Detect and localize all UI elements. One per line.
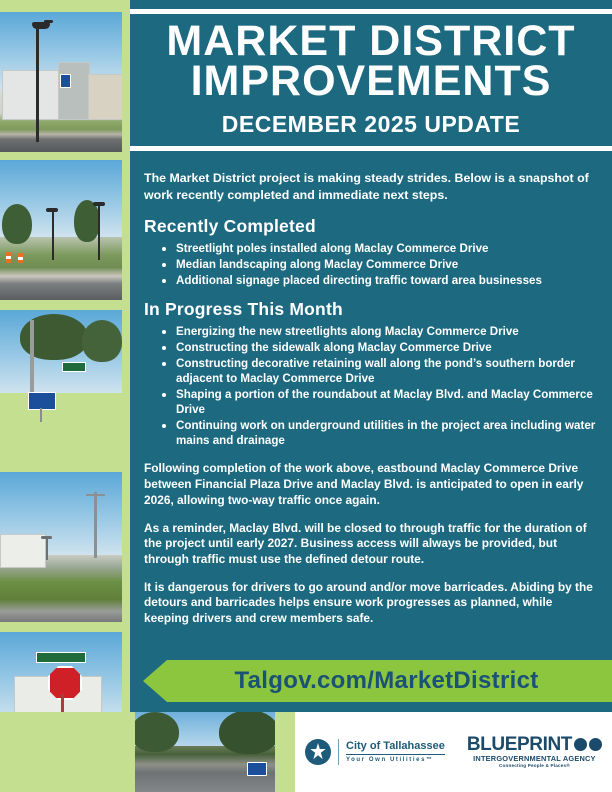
main-content-panel: MARKET DISTRICT IMPROVEMENTS DECEMBER 20… xyxy=(130,0,612,712)
photo-building xyxy=(0,534,46,568)
photo-tree xyxy=(82,320,122,362)
photo-barrel xyxy=(6,252,11,263)
photo-street-name-sign xyxy=(36,652,86,663)
photo-sign-post xyxy=(40,408,42,422)
section-heading-in-progress: In Progress This Month xyxy=(144,299,598,320)
blueprint-logo: BLUEPRINT INTERGOVERNMENTAL AGENCY Conne… xyxy=(467,735,602,769)
list-item: Shaping a portion of the roundabout at M… xyxy=(176,387,598,417)
photo-light-pole xyxy=(36,24,39,142)
blueprint-subtitle: INTERGOVERNMENTAL AGENCY xyxy=(467,755,602,762)
photo-barrel xyxy=(18,253,23,263)
top-band xyxy=(130,0,612,9)
photo-light-fixture xyxy=(93,202,105,206)
list-recently-completed: Streetlight poles installed along Maclay… xyxy=(160,241,598,288)
city-logo-name: City of Tallahassee xyxy=(346,741,445,755)
content-body: The Market District project is making st… xyxy=(144,158,598,639)
photo-tree xyxy=(135,712,179,752)
blueprint-tagline: Connecting People & Places® xyxy=(467,764,602,769)
list-item: Energizing the new streetlights along Ma… xyxy=(176,324,598,339)
photo-light-fixture xyxy=(32,22,50,29)
photo-business-sign xyxy=(0,310,122,460)
paragraph-closure-reminder: As a reminder, Maclay Blvd. will be clos… xyxy=(144,521,598,568)
photo-light-arm xyxy=(44,20,53,23)
photo-tree-lined-roadway xyxy=(135,712,275,792)
url-banner[interactable]: Talgov.com/MarketDistrict xyxy=(143,660,612,702)
photo-rail xyxy=(0,0,130,792)
photo-streetlights-median xyxy=(0,160,122,300)
page-subtitle: DECEMBER 2025 UPDATE xyxy=(222,111,520,138)
city-logo-tagline: Your Own Utilities™ xyxy=(346,757,445,763)
list-item: Median landscaping along Maclay Commerce… xyxy=(176,257,598,272)
photo-ground xyxy=(0,237,122,300)
photo-median-landscaping xyxy=(0,472,122,622)
city-logo-text: City of Tallahassee Your Own Utilities™ xyxy=(346,741,445,763)
list-item: Streetlight poles installed along Maclay… xyxy=(176,241,598,256)
blueprint-globe-icon xyxy=(574,738,587,751)
photo-building xyxy=(2,70,60,120)
photo-ground xyxy=(0,393,122,461)
paragraph-reopening: Following completion of the work above, … xyxy=(144,461,598,508)
flyer-page: MARKET DISTRICT IMPROVEMENTS DECEMBER 20… xyxy=(0,0,612,792)
list-in-progress: Energizing the new streetlights along Ma… xyxy=(160,324,598,449)
divider-middle xyxy=(130,146,612,151)
paragraph-safety-notice: It is dangerous for drivers to go around… xyxy=(144,580,598,627)
footer-logos: City of Tallahassee Your Own Utilities™ … xyxy=(295,712,612,792)
photo-street-sign xyxy=(62,362,86,372)
url-banner-text: Talgov.com/MarketDistrict xyxy=(216,667,538,695)
photo-tree xyxy=(2,204,32,244)
photo-light-pole xyxy=(52,210,54,260)
photo-light-pole xyxy=(46,538,48,560)
photo-building xyxy=(58,62,90,120)
list-item: Constructing decorative retaining wall a… xyxy=(176,356,598,386)
intro-paragraph: The Market District project is making st… xyxy=(144,170,598,203)
photo-light-fixture xyxy=(41,536,52,539)
photo-light-fixture xyxy=(46,208,58,212)
list-item: Constructing the sidewalk along Maclay C… xyxy=(176,340,598,355)
photo-light-pole xyxy=(98,204,100,260)
photo-utility-pole xyxy=(30,320,34,392)
hero-header: MARKET DISTRICT IMPROVEMENTS DECEMBER 20… xyxy=(130,14,612,146)
photo-building xyxy=(88,74,122,120)
list-item: Additional signage placed directing traf… xyxy=(176,273,598,288)
photo-sign xyxy=(60,74,71,88)
photo-utility-crossarm xyxy=(86,494,105,496)
photo-tree xyxy=(219,712,275,754)
blueprint-globe-outline-icon xyxy=(589,738,602,751)
photo-wayfinding-sign xyxy=(247,762,267,776)
blueprint-wordmark-row: BLUEPRINT xyxy=(467,735,602,754)
photo-tree xyxy=(74,200,100,242)
city-star-icon xyxy=(305,739,331,765)
blueprint-wordmark: BLUEPRINT xyxy=(467,735,572,754)
photo-market-district-sign xyxy=(28,392,56,410)
city-of-tallahassee-logo: City of Tallahassee Your Own Utilities™ xyxy=(305,739,445,765)
photo-streetlight-pole xyxy=(0,12,122,152)
photo-utility-pole xyxy=(94,492,97,558)
logo-divider xyxy=(338,739,339,765)
page-title-line2: IMPROVEMENTS xyxy=(191,62,552,102)
section-heading-recently-completed: Recently Completed xyxy=(144,216,598,237)
list-item: Continuing work on underground utilities… xyxy=(176,418,598,448)
